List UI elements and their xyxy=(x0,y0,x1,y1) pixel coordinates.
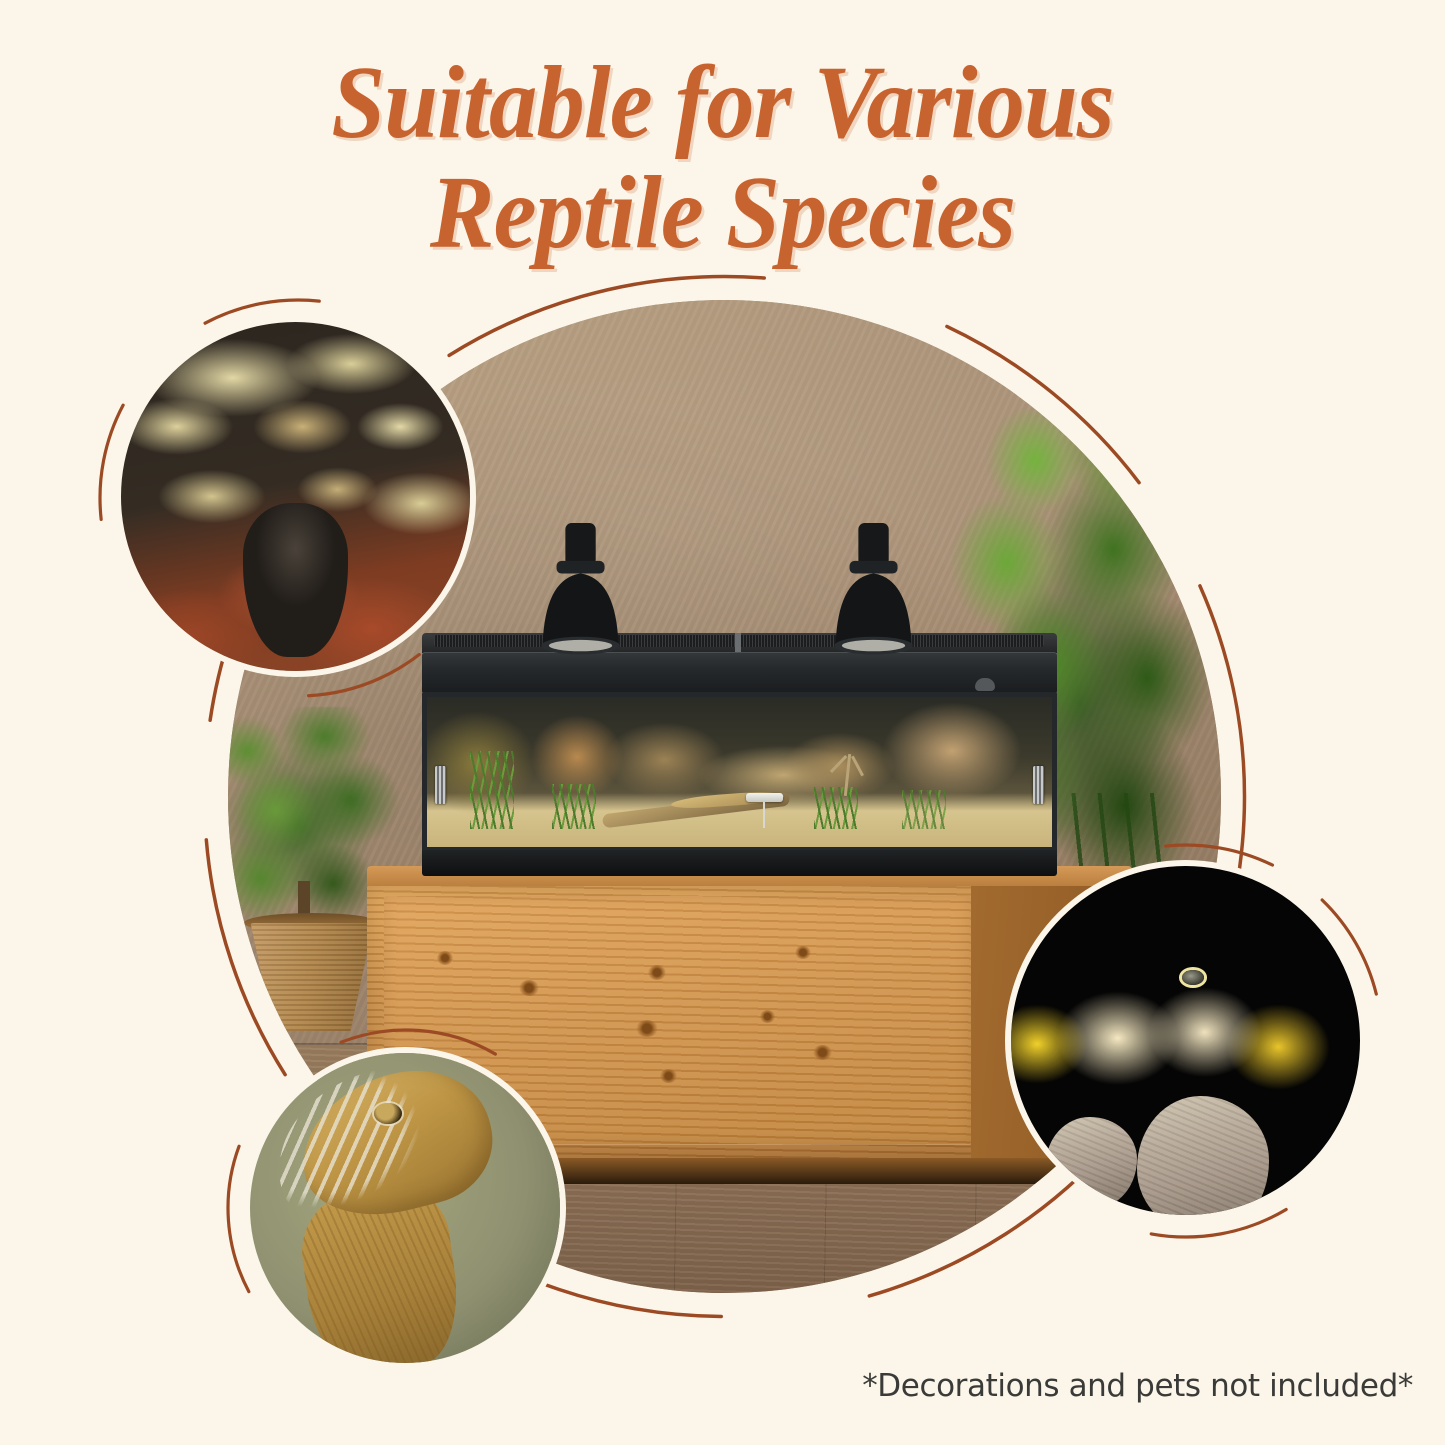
terrarium-glass-front xyxy=(422,692,1058,852)
inset-bearded-dragon xyxy=(250,1053,560,1363)
disclaimer-text: *Decorations and pets not included* xyxy=(0,1368,1413,1404)
dome-heat-lamp-right xyxy=(809,523,938,662)
habitat-interior xyxy=(427,697,1053,847)
wood-knot xyxy=(813,1045,832,1060)
habitat-plant xyxy=(552,784,596,829)
gecko-eye xyxy=(1182,970,1204,985)
dragon-eye xyxy=(374,1103,402,1125)
terrarium-base xyxy=(422,850,1058,876)
python-head xyxy=(243,503,348,657)
habitat-thermometer xyxy=(746,793,784,802)
wood-knot xyxy=(437,951,453,965)
reptile-terrarium: RepWilk xyxy=(422,633,1058,876)
brand-mark-icon xyxy=(975,678,995,691)
headline-line-2: Reptile Species xyxy=(430,155,1015,270)
wood-knot xyxy=(660,1069,677,1083)
wood-knot xyxy=(519,980,539,996)
wood-knot xyxy=(648,965,666,980)
gecko-head xyxy=(1109,936,1256,1069)
wood-knot xyxy=(636,1020,658,1037)
page-title: Suitable for VariousReptile Species xyxy=(51,48,1395,268)
door-hinge-left-icon[interactable] xyxy=(435,766,446,804)
door-hinge-right-icon[interactable] xyxy=(1033,766,1044,804)
dome-heat-lamp-left xyxy=(516,523,645,662)
gecko-rock xyxy=(1137,1096,1270,1215)
habitat-plant xyxy=(902,790,946,829)
habitat-plant xyxy=(814,787,858,829)
habitat-plant xyxy=(470,751,514,829)
wood-knot xyxy=(760,1010,775,1023)
plant-pot xyxy=(248,923,376,1031)
mesh-divider xyxy=(735,633,741,653)
inset-ball-python xyxy=(121,322,470,671)
inset-leopard-gecko xyxy=(1011,866,1360,1215)
headline-line-1: Suitable for Various xyxy=(331,45,1113,160)
gecko-rock xyxy=(1046,1117,1137,1208)
wood-knot xyxy=(795,946,811,959)
product-marketing-image: Suitable for VariousReptile Species xyxy=(0,0,1445,1445)
